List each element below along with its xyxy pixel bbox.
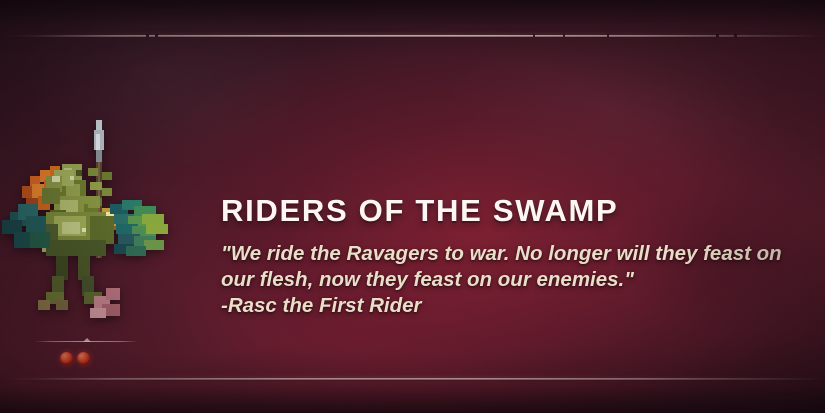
- divider-notch: [563, 34, 565, 37]
- top-divider-rule: [0, 33, 825, 38]
- selection-marker-icon: [83, 338, 91, 342]
- quote-line: "We ride the Ravagers to war. No longer …: [221, 241, 825, 267]
- divider-notch: [716, 34, 719, 37]
- divider-notch: [533, 34, 535, 37]
- divider-shadow: [0, 36, 825, 38]
- divider-glow: [0, 376, 825, 381]
- lore-quote: "We ride the Ravagers to war. No longer …: [221, 241, 825, 319]
- lore-text-block: RIDERS OF THE SWAMP "We ride the Ravager…: [221, 193, 825, 319]
- divider-notch: [146, 34, 149, 37]
- divider-notch: [155, 34, 158, 37]
- divider-notch: [607, 34, 609, 37]
- divider-shadow: [0, 379, 825, 381]
- card-title: RIDERS OF THE SWAMP: [221, 193, 825, 229]
- health-pips: [60, 352, 90, 365]
- bottom-divider-rule: [0, 376, 825, 381]
- divider-bar: [0, 378, 825, 380]
- health-pip: [77, 352, 90, 365]
- lore-card: RIDERS OF THE SWAMP "We ride the Ravager…: [0, 0, 825, 413]
- health-pip: [60, 352, 73, 365]
- swamp-rider-sprite: [2, 116, 168, 334]
- divider-glow: [0, 33, 825, 38]
- divider-bar: [0, 35, 825, 37]
- quote-line: our flesh, now they feast on our enemies…: [221, 267, 825, 293]
- unit-portrait[interactable]: [0, 116, 170, 366]
- selection-indicator: [34, 338, 138, 346]
- divider-notch: [734, 34, 737, 37]
- quote-attribution: -Rasc the First Rider: [221, 293, 825, 319]
